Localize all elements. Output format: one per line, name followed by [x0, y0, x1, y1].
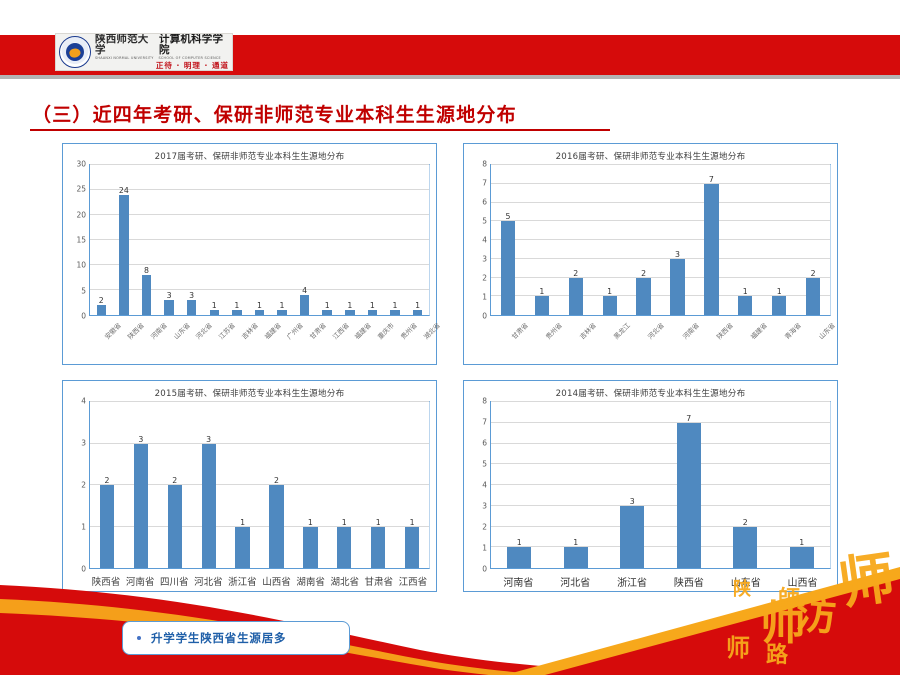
bar-cell: 4	[293, 165, 316, 315]
university-motto: 正待 · 明理 · 通道	[95, 62, 229, 70]
bar-value-label: 1	[347, 301, 352, 310]
bar-value-label: 1	[308, 518, 313, 527]
bar-cell: 1	[491, 402, 548, 568]
bar: 1	[232, 310, 241, 315]
bar-cell: 1	[316, 165, 339, 315]
x-axis-tick: 山东省	[717, 574, 774, 589]
x-axis-tick: 福建省	[339, 318, 362, 364]
x-axis-tick: 甘肃省	[294, 318, 317, 364]
bar-value-label: 1	[607, 287, 612, 296]
y-axis-tick: 6	[482, 439, 487, 448]
x-axis-label: 山东省	[717, 574, 774, 589]
x-axis-tick: 福建省	[729, 318, 763, 364]
bar-cell: 1	[203, 165, 226, 315]
x-axis: 甘肃省贵州省吉林省黑龙江河北省河南省陕西省福建省青海省山东省	[464, 318, 837, 364]
chart-2014: 2014届考研、保研非师范专业本科生生源地分布 012345678 113721…	[463, 380, 838, 592]
chart-title: 2015届考研、保研非师范专业本科生生源地分布	[63, 381, 436, 401]
x-axis-tick: 吉林省	[225, 318, 248, 364]
y-axis-tick: 1	[81, 523, 86, 532]
bar-cell: 2	[90, 165, 113, 315]
y-axis-tick: 5	[482, 460, 487, 469]
bar-value-label: 3	[189, 291, 194, 300]
y-axis-tick: 2	[482, 523, 487, 532]
x-axis-tick: 湖南省	[294, 574, 328, 588]
x-axis-tick: 浙江省	[604, 574, 661, 589]
bar-cell: 8	[135, 165, 158, 315]
x-axis-tick: 河南省	[134, 318, 157, 364]
bar-series: 113721	[491, 402, 830, 568]
x-axis-tick: 山东省	[157, 318, 180, 364]
bar: 4	[300, 295, 309, 315]
x-axis-label: 陕西省	[89, 574, 123, 588]
bar-value-label: 3	[630, 497, 635, 506]
bar: 1	[535, 296, 549, 315]
summary-callout: 升学学生陕西省生源居多	[122, 621, 350, 655]
y-axis: 051015202530	[67, 164, 89, 316]
bar: 1	[255, 310, 264, 315]
bar-value-label: 2	[104, 476, 109, 485]
bar: 7	[677, 423, 701, 568]
bar-cell: 1	[226, 402, 260, 568]
bar-value-label: 1	[325, 301, 330, 310]
bar-value-label: 24	[119, 186, 129, 195]
bar: 2	[269, 485, 283, 568]
y-axis-tick: 4	[482, 236, 487, 245]
bar-cell: 1	[525, 165, 559, 315]
university-name-en: SHAANXI NORMAL UNIVERSITY	[95, 57, 154, 61]
bar-cell: 5	[491, 165, 525, 315]
bar-value-label: 7	[709, 175, 714, 184]
y-axis-tick: 0	[482, 565, 487, 574]
bar: 1	[405, 527, 419, 569]
bar-value-label: 1	[240, 518, 245, 527]
bar: 1	[603, 296, 617, 315]
y-axis-tick: 0	[81, 565, 86, 574]
bar: 1	[413, 310, 422, 315]
bar-value-label: 3	[138, 435, 143, 444]
bar-value-label: 1	[370, 301, 375, 310]
bar-cell: 3	[604, 402, 661, 568]
bar: 1	[507, 547, 531, 568]
bar-value-label: 2	[811, 269, 816, 278]
x-axis-tick: 吉林省	[558, 318, 592, 364]
x-axis-tick: 江西省	[396, 574, 430, 588]
plot-area: 2248331111411111	[89, 164, 430, 316]
x-axis-tick: 黑龙江	[592, 318, 626, 364]
x-axis-label: 四川省	[157, 574, 191, 588]
bar-cell: 1	[339, 165, 362, 315]
bar: 5	[501, 221, 515, 315]
bar-cell: 24	[113, 165, 136, 315]
header-shadow-rule	[0, 75, 900, 79]
university-seal-icon	[59, 36, 91, 68]
x-axis-tick: 江西省	[316, 318, 339, 364]
y-axis-tick: 6	[482, 198, 487, 207]
bar-value-label: 5	[505, 212, 510, 221]
bar-value-label: 1	[777, 287, 782, 296]
bar-cell: 1	[395, 402, 429, 568]
x-axis-label: 山西省	[774, 574, 831, 589]
x-axis-label: 江西省	[396, 574, 430, 588]
x-axis-tick: 河北省	[180, 318, 203, 364]
x-axis-tick: 陕西省	[660, 574, 717, 589]
bar: 2	[168, 485, 182, 568]
bar-series: 2323121111	[90, 402, 429, 568]
y-axis-tick: 4	[81, 397, 86, 406]
bar: 1	[368, 310, 377, 315]
x-axis-tick: 河北省	[626, 318, 660, 364]
bar-cell: 1	[271, 165, 294, 315]
bar: 2	[100, 485, 114, 568]
bar-value-label: 1	[280, 301, 285, 310]
bar: 1	[738, 296, 752, 315]
y-axis-tick: 5	[81, 286, 86, 295]
x-axis-tick: 河南省	[660, 318, 694, 364]
x-axis-tick: 湖北省	[407, 318, 430, 364]
y-axis-tick: 2	[482, 274, 487, 283]
y-axis-tick: 3	[81, 439, 86, 448]
x-axis-label: 山西省	[259, 574, 293, 588]
bar-value-label: 1	[410, 518, 415, 527]
bar-value-label: 7	[686, 414, 691, 423]
y-axis-tick: 3	[482, 502, 487, 511]
university-name-cn: 陕西师范大学	[95, 34, 155, 56]
bar: 1	[322, 310, 331, 315]
bar: 2	[97, 305, 106, 315]
bar-series: 2248331111411111	[90, 165, 429, 315]
bar: 1	[371, 527, 385, 569]
bar: 3	[164, 300, 173, 315]
bar: 1	[790, 547, 814, 568]
bar: 7	[704, 184, 718, 315]
bar-value-label: 4	[302, 286, 307, 295]
y-axis-tick: 15	[76, 236, 86, 245]
bar: 1	[337, 527, 351, 569]
bar-series: 5121237112	[491, 165, 830, 315]
bar: 3	[134, 444, 148, 569]
x-axis-label: 浙江省	[604, 574, 661, 589]
bar-value-label: 2	[172, 476, 177, 485]
x-axis-tick: 陕西省	[695, 318, 729, 364]
bar-cell: 3	[192, 402, 226, 568]
x-axis-tick: 甘肃省	[362, 574, 396, 588]
x-axis-tick: 浙江省	[225, 574, 259, 588]
y-axis-tick: 30	[76, 160, 86, 169]
x-axis-label: 湖北省	[420, 320, 441, 341]
y-axis: 01234	[67, 401, 89, 569]
y-axis-tick: 7	[482, 418, 487, 427]
plot-area: 5121237112	[490, 164, 831, 316]
x-axis-tick: 河南省	[123, 574, 157, 588]
x-axis: 陕西省河南省四川省河北省浙江省山西省湖南省湖北省甘肃省江西省	[63, 571, 436, 591]
x-axis-label: 湖北省	[328, 574, 362, 588]
x-axis-tick: 安徽省	[89, 318, 112, 364]
x-axis-tick: 河北省	[547, 574, 604, 589]
chart-title: 2016届考研、保研非师范专业本科生生源地分布	[464, 144, 837, 164]
bar-cell: 1	[361, 402, 395, 568]
bar: 1	[390, 310, 399, 315]
bar: 1	[277, 310, 286, 315]
x-axis-tick: 重庆市	[362, 318, 385, 364]
bar-cell: 1	[293, 402, 327, 568]
bar-cell: 3	[661, 165, 695, 315]
department-name-en: SCHOOL OF COMPUTER SCIENCE	[159, 57, 221, 61]
callout-text: 升学学生陕西省生源居多	[151, 630, 286, 646]
bar-cell: 1	[762, 165, 796, 315]
bar: 3	[670, 259, 684, 315]
x-axis-label: 河南省	[123, 574, 157, 588]
chart-2016: 2016届考研、保研非师范专业本科生生源地分布 012345678 512123…	[463, 143, 838, 365]
bar-cell: 1	[361, 165, 384, 315]
bar-value-label: 8	[144, 266, 149, 275]
chart-2017: 2017届考研、保研非师范专业本科生生源地分布 051015202530 224…	[62, 143, 437, 365]
x-axis-label: 河北省	[191, 574, 225, 588]
y-axis-tick: 4	[482, 481, 487, 490]
bar: 3	[187, 300, 196, 315]
bar-cell: 2	[559, 165, 593, 315]
bar: 1	[345, 310, 354, 315]
x-axis-tick: 河北省	[191, 574, 225, 588]
bar-cell: 1	[548, 402, 605, 568]
bar-value-label: 2	[274, 476, 279, 485]
bar-cell: 1	[406, 165, 429, 315]
bar-cell: 3	[124, 402, 158, 568]
bar-cell: 2	[158, 402, 192, 568]
x-axis-label: 河南省	[490, 574, 547, 589]
bar: 2	[569, 278, 583, 316]
bar-value-label: 1	[393, 301, 398, 310]
y-axis-tick: 0	[482, 312, 487, 321]
bar-value-label: 3	[206, 435, 211, 444]
x-axis-label: 甘肃省	[362, 574, 396, 588]
bar-value-label: 3	[167, 291, 172, 300]
department-name-cn: 计算机科学学院	[159, 34, 229, 56]
x-axis-tick: 贵州省	[524, 318, 558, 364]
bar: 3	[620, 506, 644, 568]
bar-value-label: 1	[342, 518, 347, 527]
y-axis-tick: 1	[482, 544, 487, 553]
title-underline	[30, 129, 610, 131]
bar-value-label: 1	[415, 301, 420, 310]
y-axis-tick: 0	[81, 312, 86, 321]
bar-value-label: 1	[539, 287, 544, 296]
bar: 2	[806, 278, 820, 316]
bar-cell: 7	[694, 165, 728, 315]
bar-value-label: 2	[743, 518, 748, 527]
x-axis: 河南省河北省浙江省陕西省山东省山西省	[464, 571, 837, 591]
calligraphy-watermark-7: 师	[726, 628, 750, 663]
bar-cell: 3	[180, 165, 203, 315]
x-axis-tick: 甘肃省	[490, 318, 524, 364]
y-axis-tick: 5	[482, 217, 487, 226]
chart-title: 2017届考研、保研非师范专业本科生生源地分布	[63, 144, 436, 164]
bar-cell: 2	[90, 402, 124, 568]
bar-value-label: 2	[641, 269, 646, 278]
bar-cell: 2	[796, 165, 830, 315]
bar: 1	[564, 547, 588, 568]
bar-cell: 1	[248, 165, 271, 315]
plot-area: 2323121111	[89, 401, 430, 569]
x-axis-label: 河北省	[547, 574, 604, 589]
bar-value-label: 1	[212, 301, 217, 310]
bar-value-label: 2	[573, 269, 578, 278]
plot-area: 113721	[490, 401, 831, 569]
y-axis-tick: 8	[482, 160, 487, 169]
bar-value-label: 1	[573, 538, 578, 547]
y-axis: 012345678	[468, 164, 490, 316]
bar-cell: 3	[158, 165, 181, 315]
y-axis-tick: 3	[482, 255, 487, 264]
bar-cell: 1	[327, 402, 361, 568]
chart-title: 2014届考研、保研非师范专业本科生生源地分布	[464, 381, 837, 401]
university-logo: 陕西师范大学 计算机科学学院 SHAANXI NORMAL UNIVERSITY…	[55, 33, 233, 71]
bar: 1	[303, 527, 317, 569]
calligraphy-watermark-3: 师	[760, 587, 806, 653]
x-axis: 安徽省陕西省河南省山东省河北省江苏省吉林省福建省广州省甘肃省江西省福建省重庆市贵…	[63, 318, 436, 364]
calligraphy-watermark-1: 师	[833, 532, 900, 620]
bar-cell: 2	[627, 165, 661, 315]
x-axis-tick: 陕西省	[112, 318, 135, 364]
bar-value-label: 2	[99, 296, 104, 305]
bar: 2	[636, 278, 650, 316]
x-axis-tick: 贵州省	[385, 318, 408, 364]
bar: 24	[119, 195, 128, 315]
y-axis-tick: 25	[76, 185, 86, 194]
x-axis-tick: 河南省	[490, 574, 547, 589]
bar-cell: 1	[384, 165, 407, 315]
x-axis-tick: 江苏省	[203, 318, 226, 364]
bar-cell: 1	[226, 165, 249, 315]
bar-value-label: 3	[675, 250, 680, 259]
x-axis-tick: 陕西省	[89, 574, 123, 588]
x-axis-label: 浙江省	[225, 574, 259, 588]
y-axis: 012345678	[468, 401, 490, 569]
bar-value-label: 1	[517, 538, 522, 547]
x-axis-tick: 福建省	[248, 318, 271, 364]
bar-cell: 2	[260, 402, 294, 568]
bar: 2	[733, 527, 757, 569]
x-axis-tick: 四川省	[157, 574, 191, 588]
y-axis-tick: 10	[76, 261, 86, 270]
x-axis-tick: 山西省	[774, 574, 831, 589]
x-axis-label: 湖南省	[294, 574, 328, 588]
bar-cell: 1	[728, 165, 762, 315]
x-axis-label: 山东省	[816, 320, 837, 341]
y-axis-tick: 1	[482, 293, 487, 302]
x-axis-tick: 山东省	[797, 318, 831, 364]
page-title: （三）近四年考研、保研非师范专业本科生生源地分布	[32, 100, 517, 127]
y-axis-tick: 7	[482, 179, 487, 188]
y-axis-tick: 20	[76, 210, 86, 219]
x-axis-tick: 广州省	[271, 318, 294, 364]
x-axis-tick: 青海省	[763, 318, 797, 364]
y-axis-tick: 2	[81, 481, 86, 490]
bullet-icon	[137, 636, 141, 640]
bar-cell: 1	[593, 165, 627, 315]
bar: 1	[210, 310, 219, 315]
bar-value-label: 1	[234, 301, 239, 310]
bar-value-label: 1	[257, 301, 262, 310]
bar-cell: 1	[774, 402, 831, 568]
bar-cell: 2	[717, 402, 774, 568]
x-axis-tick: 湖北省	[328, 574, 362, 588]
bar: 3	[202, 444, 216, 569]
bar-value-label: 1	[799, 538, 804, 547]
bar: 1	[772, 296, 786, 315]
bar: 8	[142, 275, 151, 315]
bar-cell: 7	[661, 402, 718, 568]
x-axis-tick: 山西省	[259, 574, 293, 588]
y-axis-tick: 8	[482, 397, 487, 406]
bar: 1	[235, 527, 249, 569]
bar-value-label: 1	[376, 518, 381, 527]
chart-2015: 2015届考研、保研非师范专业本科生生源地分布 01234 2323121111…	[62, 380, 437, 592]
x-axis-label: 陕西省	[660, 574, 717, 589]
bar-value-label: 1	[743, 287, 748, 296]
calligraphy-watermark-6: 路	[766, 637, 788, 669]
